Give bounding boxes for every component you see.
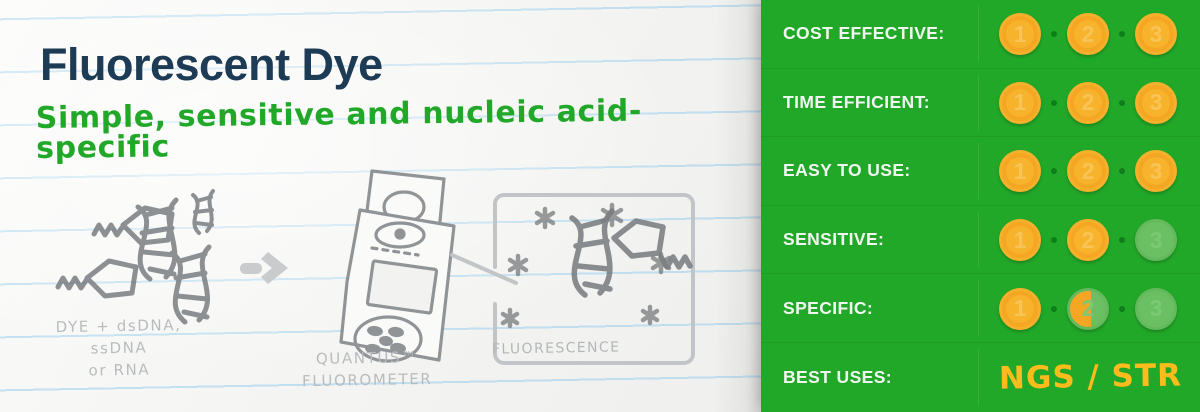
rating-coins: 123 (999, 137, 1177, 206)
best-uses-label: BEST USES: (783, 367, 892, 388)
dna-helix-icon-medium (172, 247, 209, 322)
rating-row-label: SENSITIVE: (783, 229, 884, 250)
rating-coins: 123 (999, 274, 1177, 343)
coin-separator-dot (1051, 168, 1057, 174)
paper-edge-shadow (715, 0, 761, 412)
coin-number: 1 (1014, 91, 1027, 114)
callout-label: FLUORESCENCE (492, 335, 682, 360)
coin-separator-dot (1051, 237, 1057, 243)
callout-connector-line (452, 255, 516, 283)
coin-number: 3 (1150, 229, 1163, 252)
coin-separator-dot (1051, 31, 1057, 37)
coin-number: 1 (1014, 23, 1027, 46)
best-uses-value: NGS / STR (998, 341, 1182, 412)
coin-number: 1 (1014, 229, 1027, 252)
rating-coin-full: 3 (1135, 82, 1177, 124)
rating-coins: 123 (999, 69, 1177, 138)
fluorescing-dna-dye-icon (572, 211, 690, 295)
rating-coin-full: 2 (1067, 219, 1109, 261)
device-label-line-2: FLUOROMETER (272, 367, 462, 392)
rating-coin-full: 2 (1067, 82, 1109, 124)
rating-row-label: SPECIFIC: (783, 298, 873, 319)
best-uses-row: BEST USES:NGS / STR (761, 343, 1200, 412)
dye-molecule-icon-2 (58, 261, 136, 296)
coin-number: 2 (1082, 229, 1095, 252)
rating-row: SPECIFIC:123 (761, 274, 1200, 343)
coin-number: 1 (1014, 297, 1027, 320)
input-label: DYE + dsDNA, ssDNA or RNA (23, 313, 214, 382)
rating-coin-empty: 3 (1135, 219, 1177, 261)
quantus-fluorometer-icon (341, 171, 454, 361)
rating-row-label: COST EFFECTIVE: (783, 23, 945, 44)
coin-separator-dot (1119, 100, 1125, 106)
page-title: Fluorescent Dye (40, 42, 383, 87)
rating-coin-full: 2 (1067, 13, 1109, 55)
rating-row: EASY TO USE:123 (761, 137, 1200, 206)
coin-number: 2 (1082, 91, 1095, 114)
rating-coin-full: 1 (999, 150, 1041, 192)
rating-coin-full: 3 (1135, 150, 1177, 192)
rating-coin-full: 3 (1135, 13, 1177, 55)
rating-coin-full: 1 (999, 13, 1041, 55)
rating-coins: 123 (999, 206, 1177, 275)
rating-coin-full: 1 (999, 288, 1041, 330)
ratings-panel: COST EFFECTIVE:123TIME EFFICIENT:123EASY… (761, 0, 1200, 412)
coin-separator-dot (1051, 306, 1057, 312)
rating-coins: 123 (999, 0, 1177, 69)
coin-separator-dot (1119, 168, 1125, 174)
rating-coin-half: 2 (1067, 288, 1109, 330)
rating-row: COST EFFECTIVE:123 (761, 0, 1200, 69)
coin-number: 3 (1150, 297, 1163, 320)
coin-number: 1 (1014, 160, 1027, 183)
process-arrow-icon (240, 252, 288, 284)
dna-helix-icon-small-top (193, 191, 213, 233)
coin-number: 2 (1082, 160, 1095, 183)
rating-row: SENSITIVE:123 (761, 206, 1200, 275)
coin-number: 3 (1150, 23, 1163, 46)
coin-number: 3 (1150, 91, 1163, 114)
coin-separator-dot (1119, 306, 1125, 312)
coin-number: 2 (1082, 23, 1095, 46)
device-label: QUANTUS™ FLUOROMETER (272, 345, 463, 392)
rating-row-label: TIME EFFICIENT: (783, 92, 930, 113)
coin-number: 3 (1150, 160, 1163, 183)
rating-row-label: EASY TO USE: (783, 160, 911, 181)
rating-row: TIME EFFICIENT:123 (761, 69, 1200, 138)
rating-coin-full: 1 (999, 82, 1041, 124)
input-label-line-3: or RNA (24, 357, 214, 382)
rating-coin-empty: 3 (1135, 288, 1177, 330)
workflow-illustration: DYE + dsDNA, ssDNA or RNA QUANTUS™ FLUOR… (0, 155, 745, 405)
page-subtitle: Simple, sensitive and nucleic acid-speci… (36, 95, 761, 164)
coin-separator-dot (1119, 237, 1125, 243)
fluorescent-dye-banner: Fluorescent Dye Simple, sensitive and nu… (0, 0, 1200, 412)
rating-coin-full: 1 (999, 219, 1041, 261)
lined-paper-background: Fluorescent Dye Simple, sensitive and nu… (0, 0, 761, 412)
coin-separator-dot (1119, 31, 1125, 37)
rating-coin-full: 2 (1067, 150, 1109, 192)
coin-number: 2 (1082, 297, 1095, 320)
coin-separator-dot (1051, 100, 1057, 106)
